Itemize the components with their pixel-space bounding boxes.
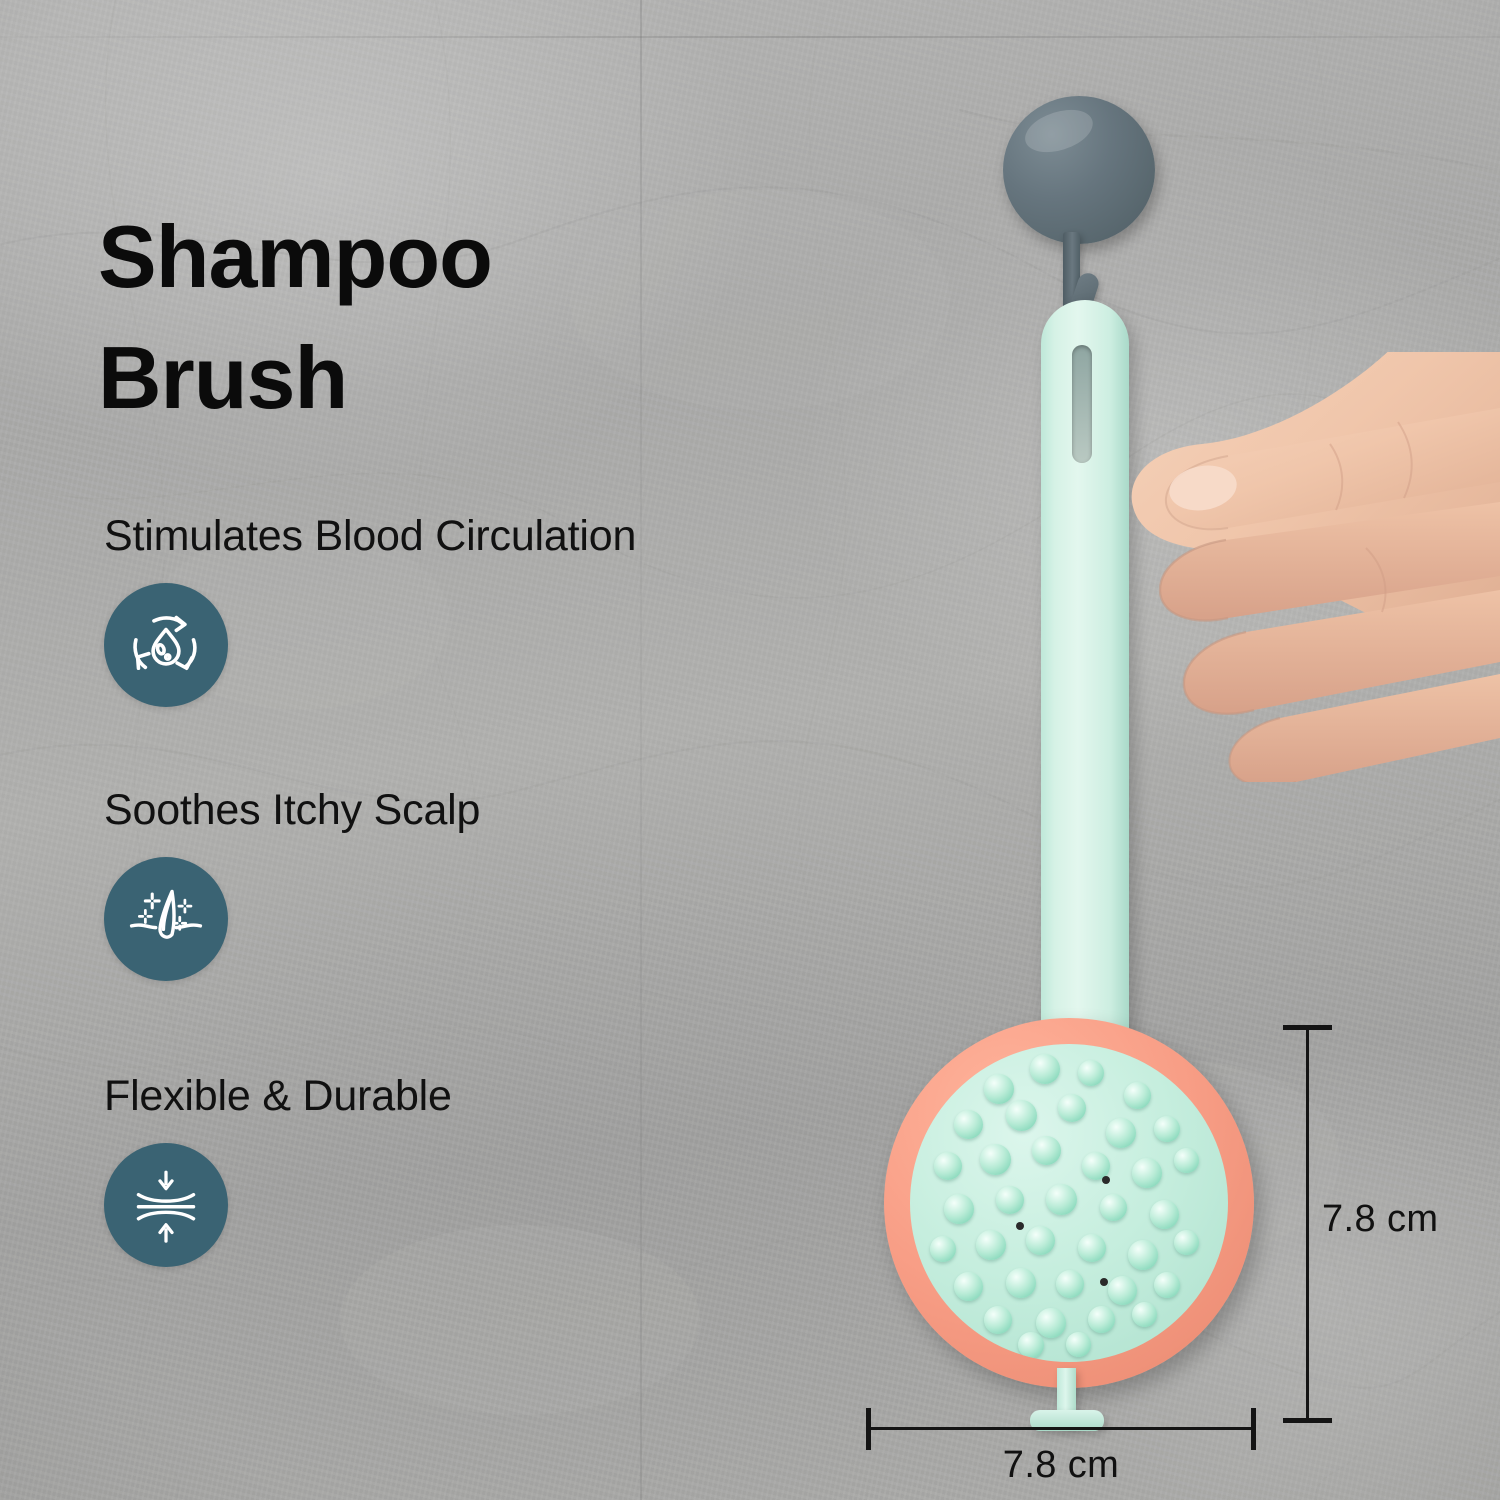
dimension-vertical-line	[1306, 1027, 1309, 1422]
feature-label-circulation: Stimulates Blood Circulation	[104, 512, 764, 561]
hair-follicle-sparkle-icon	[104, 857, 228, 981]
brush-head-pad	[910, 1044, 1228, 1362]
feature-item-circulation: Stimulates Blood Circulation	[104, 512, 764, 707]
dimension-width-label: 7.8 cm	[866, 1444, 1256, 1487]
water-drop-circulation-icon	[104, 583, 228, 707]
brush-pad-hole	[1100, 1278, 1108, 1286]
tile-seam-horizontal	[0, 36, 1500, 38]
feature-item-scalp: Soothes Itchy Scalp	[104, 786, 764, 981]
dimension-vertical-cap-bottom	[1283, 1418, 1332, 1423]
dimension-horizontal-line	[866, 1427, 1256, 1430]
page-title-line-1: Shampoo	[98, 196, 718, 317]
feature-label-scalp: Soothes Itchy Scalp	[104, 786, 764, 835]
feature-label-flexible: Flexible & Durable	[104, 1072, 764, 1121]
dimension-height-label: 7.8 cm	[1322, 1198, 1438, 1241]
flexible-compression-arrows-icon	[104, 1143, 228, 1267]
wall-hook-disc	[1003, 96, 1155, 244]
brush-pad-hole	[1102, 1176, 1110, 1184]
page-title-line-2: Brush	[98, 317, 718, 438]
brush-handle-hang-slot	[1072, 345, 1092, 463]
product-infographic: Shampoo Brush Stimulates Blood Circulati…	[0, 0, 1500, 1500]
page-title: Shampoo Brush	[98, 196, 718, 439]
hand-graphic	[1098, 352, 1500, 782]
brush-pad-hole	[1016, 1222, 1024, 1230]
feature-item-flexible: Flexible & Durable	[104, 1072, 764, 1267]
